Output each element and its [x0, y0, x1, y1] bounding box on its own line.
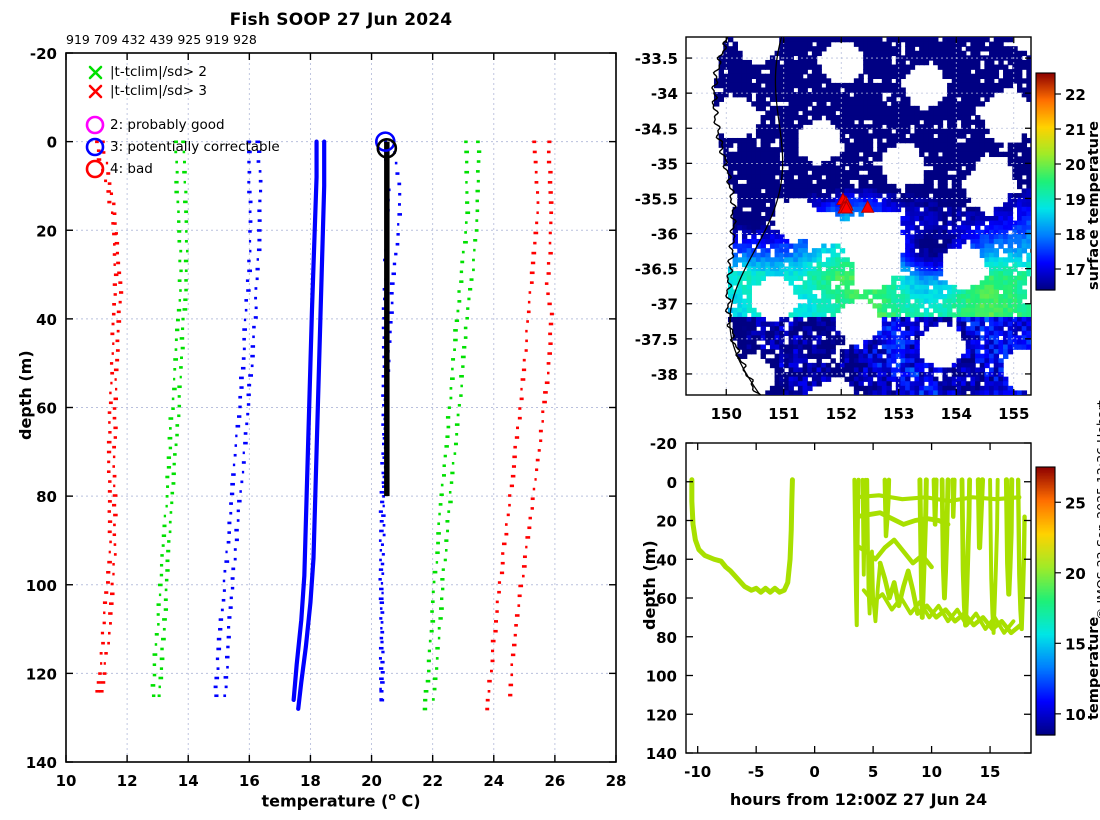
profile-flag-legend: |t-tclim|/sd> 2 |t-tclim|/sd> 3 [86, 62, 207, 100]
profile-xaxis-label-main: temperature ( [261, 791, 388, 810]
svg-text:19: 19 [1065, 191, 1086, 209]
svg-text:-5: -5 [748, 763, 765, 781]
svg-text:0: 0 [809, 763, 819, 781]
svg-text:-36: -36 [651, 226, 678, 244]
svg-text:20: 20 [1065, 565, 1086, 583]
legend-row-qc3: 3: potentially correctable [84, 136, 280, 158]
svg-text:18: 18 [1065, 226, 1086, 244]
svg-text:40: 40 [36, 311, 57, 329]
profile-yaxis-label: depth (m) [16, 350, 35, 440]
svg-text:21: 21 [1065, 121, 1086, 139]
svg-text:-37: -37 [651, 296, 678, 314]
svg-text:24: 24 [483, 772, 504, 790]
svg-text:80: 80 [36, 488, 57, 506]
svg-text:10: 10 [56, 772, 77, 790]
svg-text:152: 152 [826, 405, 857, 420]
svg-text:60: 60 [656, 590, 677, 608]
legend-row-flag2: |t-tclim|/sd> 2 [86, 62, 207, 81]
section-xaxis-label: hours from 12:00Z 27 Jun 24 [686, 790, 1031, 809]
legend-label-qc3: 3: potentially correctable [110, 139, 280, 155]
map-panel: 150151152153154155 -33.5-34-34.5-35-35.5… [630, 20, 1050, 420]
svg-text:20: 20 [36, 222, 57, 240]
section-colorbar-label: temperature [1086, 617, 1100, 720]
svg-text:-37.5: -37.5 [635, 331, 678, 349]
svg-text:0: 0 [47, 134, 57, 152]
svg-text:28: 28 [606, 772, 627, 790]
legend-label-flag3: |t-tclim|/sd> 3 [110, 83, 207, 99]
svg-text:10: 10 [921, 763, 942, 781]
profile-xaxis-label: temperature (o C) [66, 790, 616, 810]
svg-text:150: 150 [711, 405, 742, 420]
svg-text:-34.5: -34.5 [635, 120, 678, 138]
svg-text:22: 22 [422, 772, 443, 790]
svg-text:20: 20 [656, 513, 677, 531]
legend-label-qc2: 2: probably good [110, 117, 225, 133]
section-yaxis-label: depth (m) [640, 540, 659, 630]
svg-text:-36.5: -36.5 [635, 261, 678, 279]
svg-text:80: 80 [656, 629, 677, 647]
svg-text:155: 155 [998, 405, 1029, 420]
figure-root: Fish SOOP 27 Jun 2024 919 709 432 439 92… [0, 0, 1100, 820]
svg-text:-35.5: -35.5 [635, 190, 678, 208]
profile-qc-legend: 2: probably good 3: potentially correcta… [84, 114, 280, 180]
svg-text:14: 14 [178, 772, 199, 790]
red-x-icon [86, 82, 106, 100]
svg-text:151: 151 [768, 405, 799, 420]
svg-text:-38: -38 [651, 366, 678, 384]
svg-text:140: 140 [646, 745, 677, 763]
svg-text:22: 22 [1065, 86, 1086, 104]
svg-text:153: 153 [883, 405, 914, 420]
svg-text:60: 60 [36, 400, 57, 418]
profile-xaxis-label-sup: o [388, 790, 396, 803]
profile-xaxis-label-tail: C) [396, 791, 421, 810]
svg-text:0: 0 [667, 474, 677, 492]
svg-text:10: 10 [1065, 706, 1086, 724]
svg-text:-20: -20 [30, 45, 57, 63]
svg-text:5: 5 [868, 763, 878, 781]
svg-text:-34: -34 [651, 85, 678, 103]
svg-text:17: 17 [1065, 261, 1086, 279]
magenta-circle-icon [84, 114, 108, 136]
svg-text:100: 100 [646, 668, 677, 686]
svg-text:-10: -10 [684, 763, 711, 781]
green-x-icon [86, 63, 106, 81]
svg-text:120: 120 [26, 665, 57, 683]
svg-text:18: 18 [300, 772, 321, 790]
svg-text:15: 15 [1065, 635, 1086, 653]
svg-text:20: 20 [361, 772, 382, 790]
svg-text:-35: -35 [651, 155, 678, 173]
legend-row-flag3: |t-tclim|/sd> 3 [86, 81, 207, 100]
map-colorbar-label: surface temperature [1086, 121, 1100, 290]
legend-label-flag2: |t-tclim|/sd> 2 [110, 64, 207, 80]
svg-text:120: 120 [646, 706, 677, 724]
svg-text:140: 140 [26, 754, 57, 772]
svg-text:26: 26 [544, 772, 565, 790]
svg-text:20: 20 [1065, 156, 1086, 174]
figure-title: Fish SOOP 27 Jun 2024 [66, 10, 616, 30]
red-circle-icon [84, 158, 108, 180]
svg-text:16: 16 [239, 772, 260, 790]
legend-row-qc2: 2: probably good [84, 114, 280, 136]
legend-row-qc4: 4: bad [84, 158, 280, 180]
blue-circle-icon [84, 136, 108, 158]
svg-text:154: 154 [941, 405, 972, 420]
svg-text:100: 100 [26, 577, 57, 595]
svg-text:-33.5: -33.5 [635, 50, 678, 68]
legend-label-qc4: 4: bad [110, 161, 153, 177]
section-panel: -10-5051015 -20020406080100120140 [630, 425, 1050, 785]
svg-text:40: 40 [656, 551, 677, 569]
svg-text:12: 12 [117, 772, 138, 790]
svg-text:-20: -20 [650, 435, 677, 453]
svg-text:25: 25 [1065, 494, 1086, 512]
svg-text:15: 15 [980, 763, 1001, 781]
